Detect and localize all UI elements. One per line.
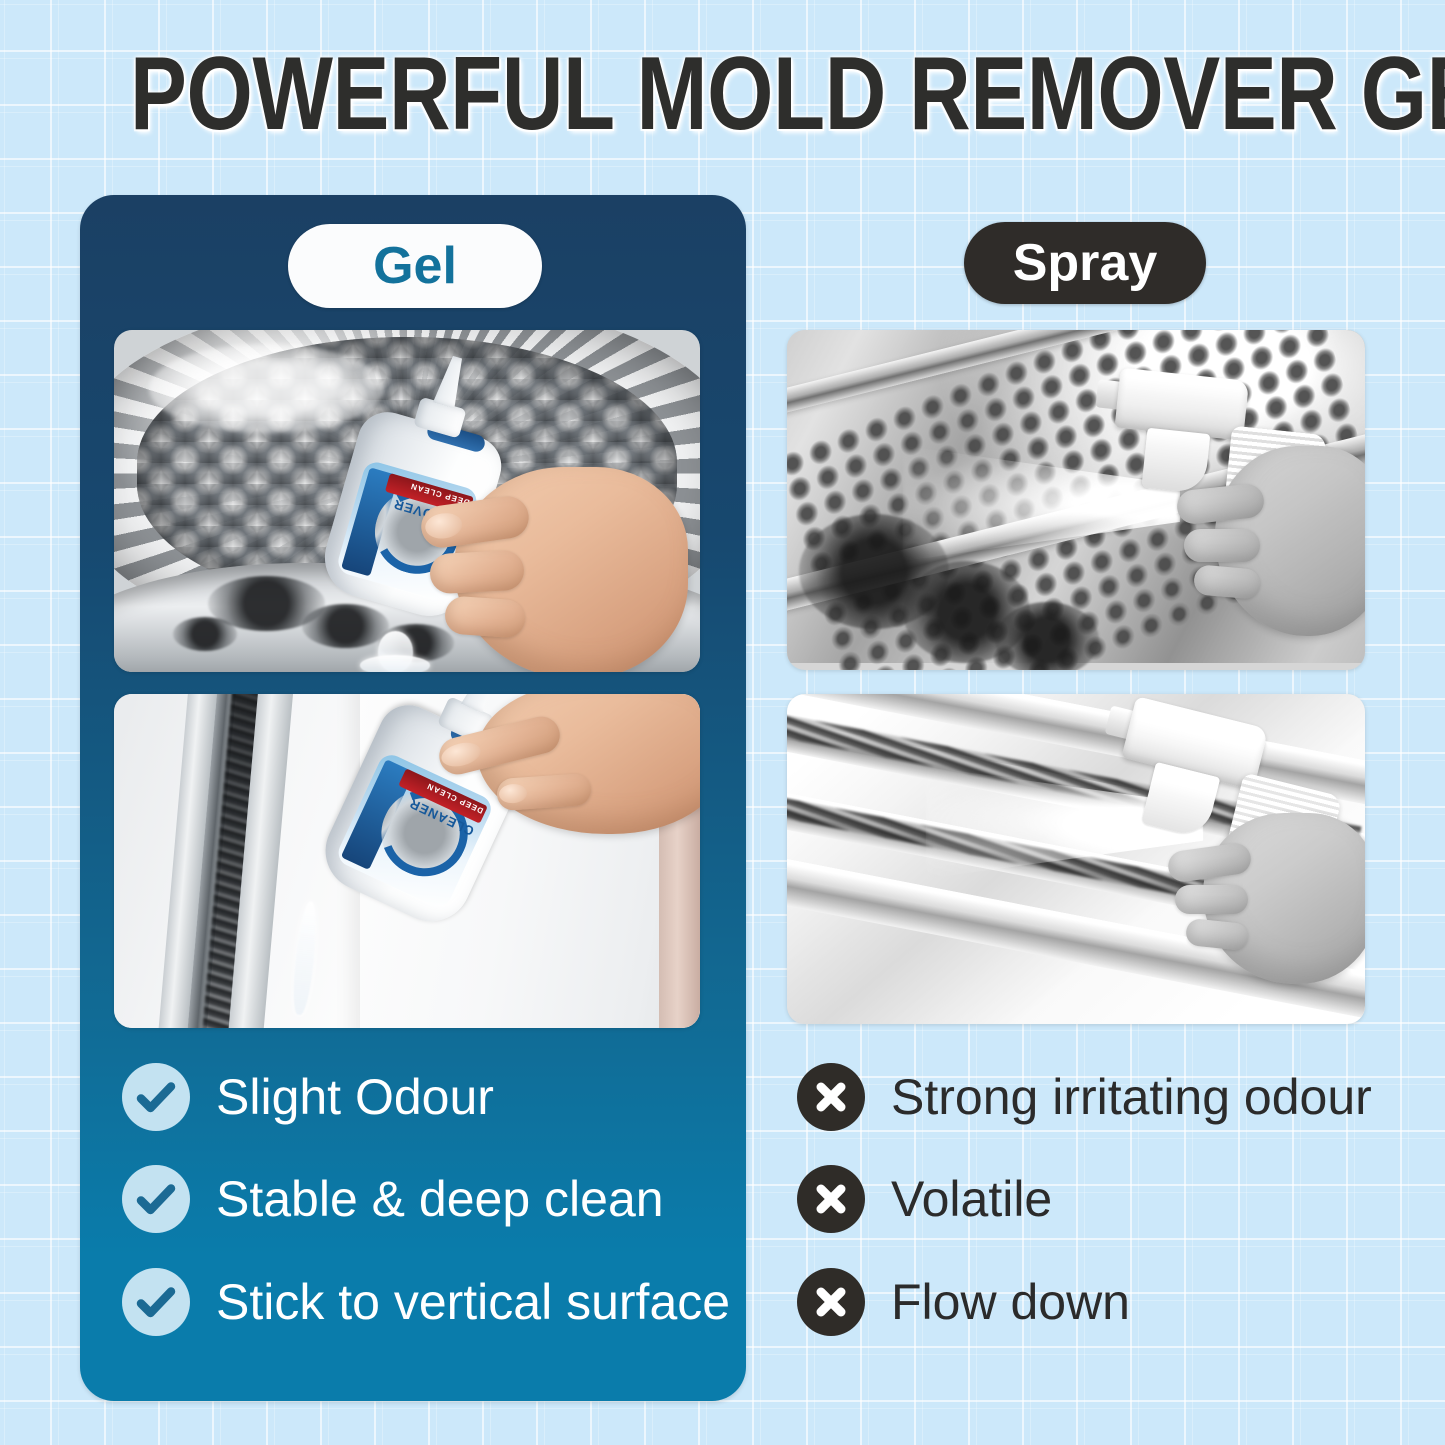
drum-highlight [149, 344, 383, 433]
spray-drawback-label: Flow down [891, 1275, 1130, 1329]
hand-holding-bottle [454, 467, 688, 672]
finger [496, 773, 592, 812]
gel-feature-item: Stick to vertical surface [122, 1268, 730, 1336]
gel-feature-item: Stable & deep clean [122, 1165, 664, 1233]
bottle-label: CLEANER DEEP CLEAN [334, 751, 495, 911]
hand-holding-spray [1215, 446, 1365, 636]
check-icon [122, 1063, 190, 1131]
hand-holding-spray [1203, 813, 1365, 985]
gel-feature-label: Stable & deep clean [216, 1172, 664, 1226]
fingernail [498, 784, 527, 805]
spray-trigger [1141, 427, 1209, 493]
spray-drawback-item: Volatile [797, 1165, 1052, 1233]
page-title: POWERFUL MOLD REMOVER GEL [130, 42, 1315, 146]
check-icon [122, 1268, 190, 1336]
mold-patch [302, 604, 390, 648]
photo-gel-applied-to-seal: CLEANER DEEP CLEAN [114, 694, 700, 1028]
gel-badge-label: Gel [373, 236, 457, 296]
gel-feature-label: Slight Odour [216, 1070, 494, 1124]
spray-drawback-label: Volatile [891, 1172, 1052, 1226]
check-icon [122, 1165, 190, 1233]
spray-drawback-item: Flow down [797, 1268, 1130, 1336]
spray-head [1114, 367, 1249, 440]
cross-icon [797, 1268, 865, 1336]
fingernail [439, 738, 483, 769]
mold-patch [995, 602, 1099, 670]
photo-gel-applied-to-drum: REMOVER DEEP CLEAN [114, 330, 700, 672]
cross-icon [797, 1165, 865, 1233]
spray-badge-label: Spray [1013, 233, 1158, 293]
palm [477, 694, 700, 834]
cross-icon [797, 1063, 865, 1131]
finger [1175, 885, 1248, 914]
gel-feature-label: Stick to vertical surface [216, 1275, 730, 1329]
spray-badge: Spray [964, 222, 1206, 304]
finger [443, 596, 525, 640]
fingernail [424, 511, 464, 540]
finger [429, 549, 525, 594]
finger [1184, 529, 1260, 561]
photo-spray-on-drum [787, 330, 1365, 670]
gel-feature-item: Slight Odour [122, 1063, 494, 1131]
photo-spray-on-seal [787, 694, 1365, 1024]
gel-badge: Gel [288, 224, 542, 308]
spray-drawback-item: Strong irritating odour [797, 1063, 1372, 1131]
hand-holding-bottle [477, 694, 700, 834]
spray-drawback-label: Strong irritating odour [891, 1070, 1372, 1124]
gel-puddle [360, 655, 430, 672]
